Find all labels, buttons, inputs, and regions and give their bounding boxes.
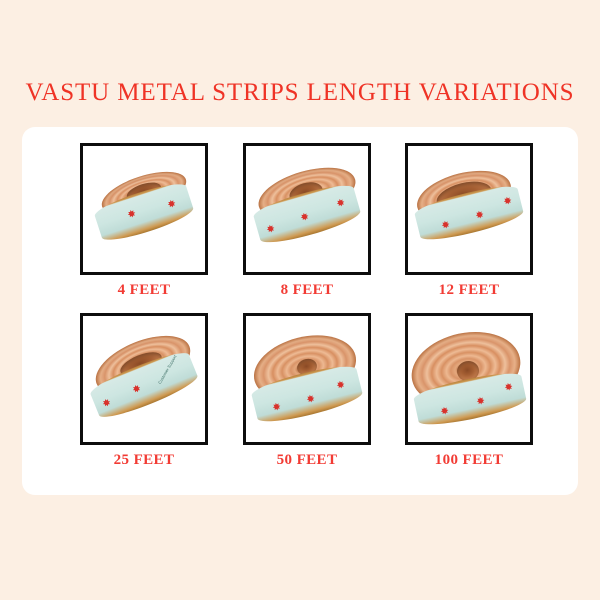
logo-mark: ✸: [504, 382, 513, 392]
product-image-frame: ✸ ✸ ✸: [405, 313, 533, 445]
product-length-variations-page: VASTU METAL STRIPS LENGTH VARIATIONS ✸: [0, 0, 600, 600]
tile-label: 4 FEET: [63, 282, 225, 299]
product-tile-25-feet[interactable]: Customer Support ✸ ✸ 25 FEET: [63, 313, 225, 469]
brand-logo-tertiary: ✸: [440, 406, 449, 416]
strip-roll-image: ✸ ✸ ✸: [414, 169, 524, 249]
product-tile-100-feet[interactable]: ✸ ✸ ✸ 100 FEET: [388, 313, 550, 469]
strip-roll-image: ✸ ✸ ✸: [253, 167, 361, 251]
product-tile-4-feet[interactable]: ✸ ✸ 4 FEET: [63, 143, 225, 299]
brand-logo: ✸: [476, 396, 485, 406]
product-tile-grid: ✸ ✸ 4 FEET: [22, 127, 578, 495]
logo-mark: ✸: [476, 396, 485, 406]
strip-roll-image: Customer Support ✸ ✸: [89, 337, 199, 421]
product-image-frame: Customer Support ✸ ✸: [80, 313, 208, 445]
product-image-frame: ✸ ✸ ✸: [243, 143, 371, 275]
tile-label: 12 FEET: [388, 282, 550, 299]
tile-label: 100 FEET: [388, 452, 550, 469]
logo-mark: ✸: [440, 406, 449, 416]
product-tile-50-feet[interactable]: ✸ ✸ ✸ 50 FEET: [226, 313, 388, 469]
tile-label: 50 FEET: [226, 452, 388, 469]
tile-label: 8 FEET: [226, 282, 388, 299]
strip-roll-image: ✸ ✸ ✸: [251, 333, 363, 425]
product-tile-12-feet[interactable]: ✸ ✸ ✸ 12 FEET: [388, 143, 550, 299]
product-image-frame: ✸ ✸ ✸: [243, 313, 371, 445]
strip-roll-image: ✸ ✸ ✸: [411, 331, 527, 427]
strip-roll-image: ✸ ✸: [92, 170, 196, 248]
product-tile-8-feet[interactable]: ✸ ✸ ✸ 8 FEET: [226, 143, 388, 299]
product-image-frame: ✸ ✸ ✸: [405, 143, 533, 275]
product-image-frame: ✸ ✸: [80, 143, 208, 275]
tile-label: 25 FEET: [63, 452, 225, 469]
page-title: VASTU METAL STRIPS LENGTH VARIATIONS: [0, 79, 600, 107]
product-grid-card: ✸ ✸ 4 FEET: [22, 127, 578, 495]
brand-logo-secondary: ✸: [504, 382, 513, 392]
